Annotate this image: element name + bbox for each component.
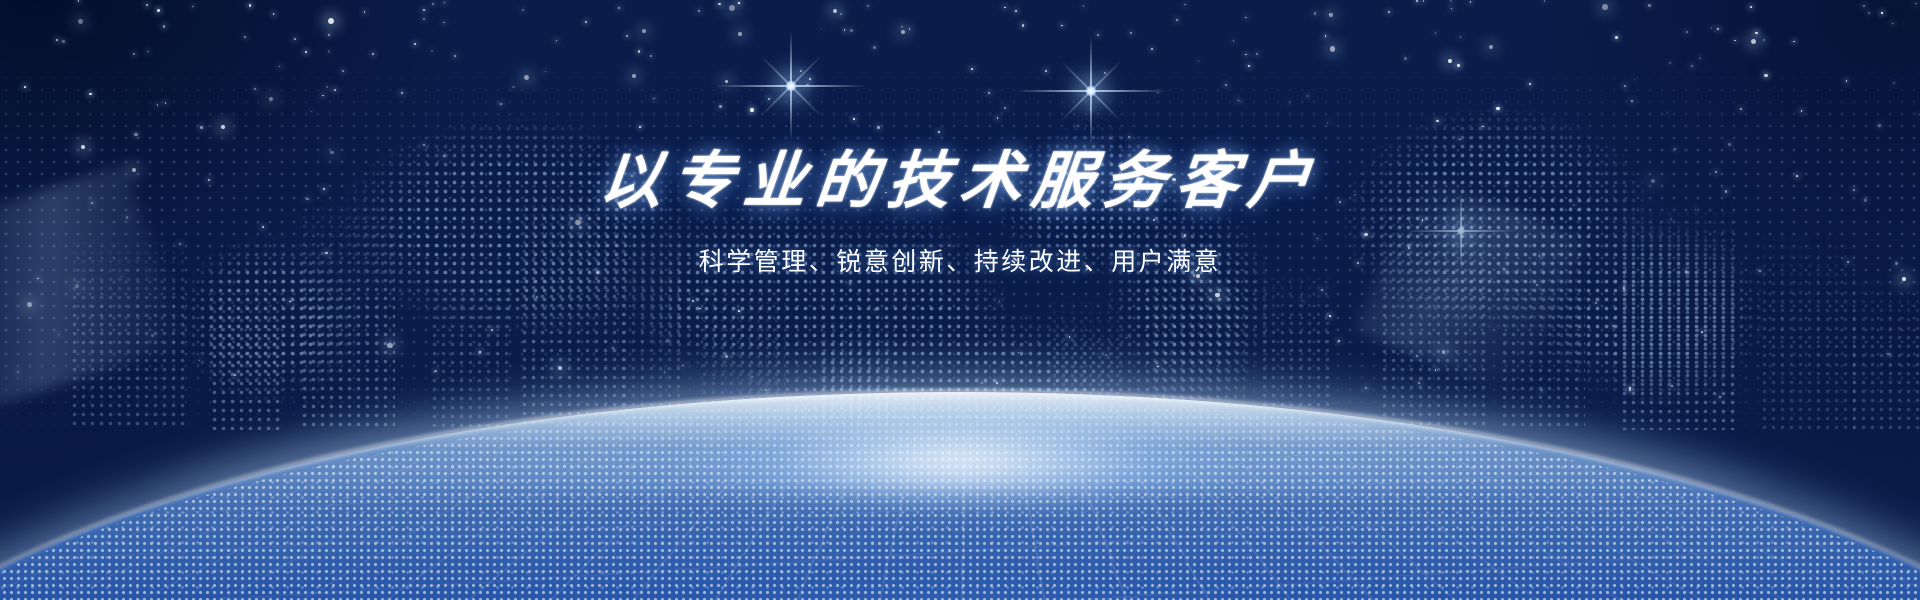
- banner-subtitle: 科学管理、锐意创新、持续改进、用户满意: [699, 242, 1222, 278]
- banner-content: 以专业的技术服务客户 科学管理、锐意创新、持续改进、用户满意: [0, 0, 1920, 600]
- hero-banner: 以专业的技术服务客户 科学管理、锐意创新、持续改进、用户满意: [0, 0, 1920, 600]
- banner-headline: 以专业的技术服务客户: [597, 150, 1324, 212]
